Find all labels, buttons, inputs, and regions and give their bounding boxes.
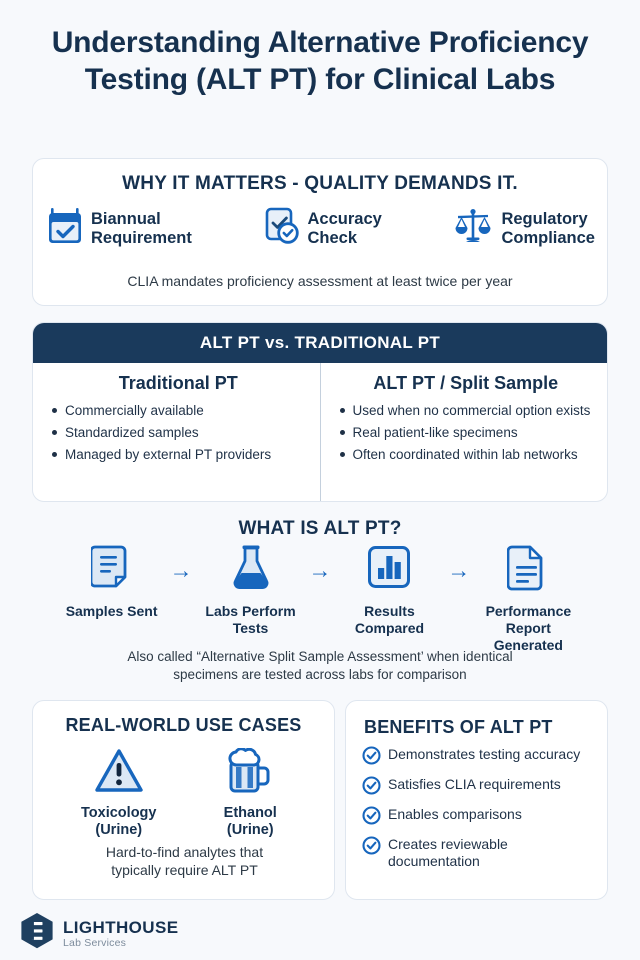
flow-step-results-compared: Results Compared [338,542,441,637]
calendar-check-icon [47,207,83,250]
benefits-heading: BENEFITS OF ALT PT [364,717,553,738]
flow-footnote: Also called “Alternative Split Sample As… [60,648,580,684]
use-cases-items: Toxicology (Urine) [53,747,316,839]
flow-step-label: Results Compared [338,603,441,637]
report-document-icon [507,544,549,597]
comparison-body: Traditional PT Commercially available St… [33,363,607,502]
comparison-bullet-list: Commercially available Standardized samp… [51,402,306,463]
check-circle-icon [362,776,381,800]
why-item-biannual-requirement: Biannual Requirement [47,207,192,250]
list-item: Demonstrates testing accuracy [362,746,597,770]
use-case-ethanol: Ethanol (Urine) [195,747,305,839]
document-lines-icon [91,544,133,597]
why-item-accuracy-check: Accuracy Check [264,207,382,250]
brand-name: LIGHTHOUSE [63,919,178,936]
footer-logo[interactable]: LIGHTHOUSE Lab Services [20,912,178,955]
list-item: Real patient-like specimens [339,424,594,441]
why-it-matters-card: WHY IT MATTERS - QUALITY DEMANDS IT. Bia… [32,158,608,306]
list-item: Satisfies CLIA requirements [362,776,597,800]
why-it-matters-footnote: CLIA mandates proficiency assessment at … [33,273,607,289]
list-item: Enables comparisons [362,806,597,830]
flask-icon [230,544,272,597]
hexagon-ladder-logo-icon [20,912,54,955]
bar-chart-icon [367,545,411,596]
list-item: Standardized samples [51,424,306,441]
use-case-label: Toxicology (Urine) [64,805,174,839]
use-case-toxicology: Toxicology (Urine) [64,747,174,839]
scales-of-justice-icon [453,207,493,250]
check-circle-icon [362,836,381,860]
benefit-label: Satisfies CLIA requirements [388,776,561,793]
comparison-card: ALT PT vs. TRADITIONAL PT Traditional PT… [32,322,608,502]
use-cases-card: REAL-WORLD USE CASES Toxicology (Urine) [32,700,335,900]
list-item: Used when no commercial option exists [339,402,594,419]
clipboard-check-icon [264,207,300,250]
flow-arrow-icon: → [163,542,199,598]
comparison-bullet-list: Used when no commercial option exists Re… [339,402,594,463]
use-cases-footnote: Hard-to-find analytes that typically req… [43,843,326,879]
check-circle-icon [362,806,381,830]
footer-logo-text: LIGHTHOUSE Lab Services [63,919,178,949]
list-item: Managed by external PT providers [51,446,306,463]
flow-heading: WHAT IS ALT PT? [0,518,640,540]
why-item-label: Accuracy Check [308,210,382,248]
flow-step-labs-perform-tests: Labs Perform Tests [199,542,302,637]
check-circle-icon [362,746,381,770]
benefits-card: BENEFITS OF ALT PT Demonstrates testing … [345,700,608,900]
why-it-matters-heading: WHY IT MATTERS - QUALITY DEMANDS IT. [33,173,607,195]
why-item-label: Biannual Requirement [91,210,192,248]
why-it-matters-items: Biannual Requirement Accuracy Check [47,207,595,250]
why-item-label: Regulatory Compliance [501,210,595,248]
flow-step-label: Performance Report Generated [477,603,580,654]
flow-arrow-icon: → [441,542,477,598]
flow-arrow-icon: → [302,542,338,598]
comparison-column-title: Traditional PT [51,373,306,394]
list-item: Commercially available [51,402,306,419]
brand-subtitle: Lab Services [63,938,178,949]
list-item: Creates reviewable documentation [362,836,597,870]
use-case-label: Ethanol (Urine) [195,805,305,839]
list-item: Often coordinated within lab networks [339,446,594,463]
use-cases-heading: REAL-WORLD USE CASES [33,715,334,736]
comparison-column-traditional: Traditional PT Commercially available St… [33,363,320,502]
warning-triangle-icon [94,748,144,799]
comparison-column-alt-pt: ALT PT / Split Sample Used when no comme… [320,363,608,502]
benefit-label: Creates reviewable documentation [388,836,597,870]
benefit-label: Enables comparisons [388,806,522,823]
flow-steps: Samples Sent → Labs Perform Tests → [60,542,580,654]
page-title: Understanding Alternative Proficiency Te… [50,24,590,98]
benefit-label: Demonstrates testing accuracy [388,746,580,763]
infographic-page: Understanding Alternative Proficiency Te… [0,0,640,960]
flow-step-samples-sent: Samples Sent [60,542,163,620]
flow-step-label: Labs Perform Tests [199,603,302,637]
beer-mug-icon [226,748,274,799]
comparison-column-title: ALT PT / Split Sample [339,373,594,394]
flow-step-label: Samples Sent [60,603,163,620]
why-item-regulatory-compliance: Regulatory Compliance [453,207,595,250]
comparison-heading: ALT PT vs. TRADITIONAL PT [33,323,607,363]
benefits-list: Demonstrates testing accuracy Satisfies … [362,746,597,876]
flow-step-performance-report: Performance Report Generated [477,542,580,654]
